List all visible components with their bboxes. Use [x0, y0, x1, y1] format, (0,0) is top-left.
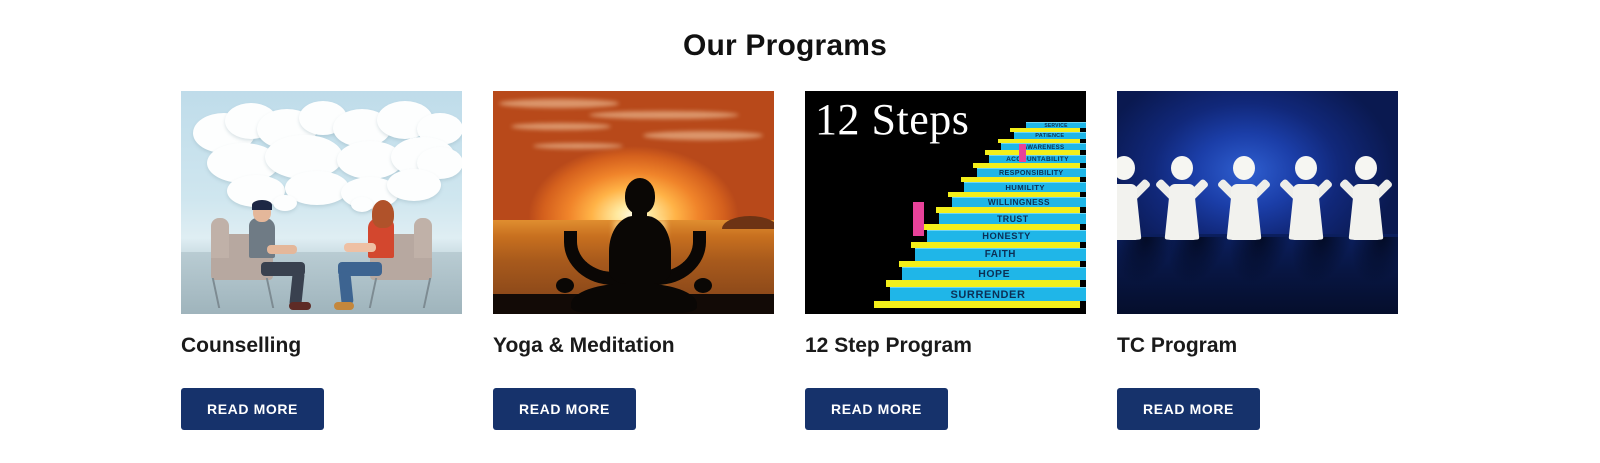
counselling-artwork: [181, 91, 462, 314]
step-riser: [961, 177, 1080, 182]
figure-shadow: [1160, 237, 1228, 283]
step-riser: [923, 224, 1080, 230]
paper-figure: [1345, 142, 1387, 240]
step-tread: SURRENDER: [890, 287, 1086, 301]
step-tread: HONESTY: [927, 230, 1086, 242]
step-tread: FAITH: [915, 248, 1086, 261]
figure-left-hand: [556, 278, 574, 293]
step-riser: [874, 301, 1080, 308]
man-hair: [252, 200, 272, 210]
meditating-figure: [493, 91, 774, 314]
woman-hair: [372, 200, 394, 228]
figure-body: [1293, 184, 1319, 240]
card-title: TC Program: [1117, 333, 1398, 359]
figure-head: [1295, 156, 1317, 180]
yoga-meditation-photo[interactable]: [493, 91, 774, 314]
twelve-steps-graphic[interactable]: 12 Steps SURRENDERHOPEFAITHHONESTYTRUSTW…: [805, 91, 1086, 314]
figure-body: [1231, 184, 1257, 240]
step-tread: AWARENESS: [1001, 143, 1086, 150]
chair-right-legs: [369, 278, 431, 308]
cloud-tail: [351, 197, 373, 212]
woman-shoe: [334, 302, 354, 310]
step-riser: [899, 261, 1080, 267]
figure-head: [625, 178, 655, 214]
step-riser: [948, 192, 1080, 197]
paper-figure: [1161, 142, 1203, 240]
steps-staircase: SURRENDERHOPEFAITHHONESTYTRUSTWILLINGNES…: [805, 128, 1086, 308]
chair-right-back: [414, 218, 432, 258]
card-title: Yoga & Meditation: [493, 333, 774, 359]
figure-head: [1171, 156, 1193, 180]
step-edge-accent: [913, 202, 924, 236]
program-card-tc[interactable]: TC Program READ MORE: [1117, 91, 1398, 359]
cloud-tail: [273, 195, 297, 211]
man-arm: [267, 245, 297, 254]
counselling-illustration[interactable]: [181, 91, 462, 314]
figure-legs: [571, 283, 697, 313]
step-riser: [911, 242, 1080, 248]
step-tread: WILLINGNESS: [952, 197, 1086, 207]
figure-shadow: [1284, 237, 1352, 283]
card-title: 12 Step Program: [805, 333, 1086, 359]
step-edge-accent: [1019, 144, 1026, 162]
step-tread: RESPONSIBILITY: [977, 168, 1086, 177]
read-more-button[interactable]: READ MORE: [493, 388, 636, 430]
program-card-yoga-meditation[interactable]: Yoga & Meditation READ MORE: [493, 91, 774, 359]
figure-body: [1117, 184, 1137, 240]
step-riser: [998, 139, 1080, 143]
figure-shadow: [1344, 237, 1398, 283]
man-shoe: [289, 302, 311, 310]
read-more-button[interactable]: READ MORE: [181, 388, 324, 430]
step-tread: PATIENCE: [1014, 132, 1086, 139]
figure-body: [1169, 184, 1195, 240]
figure-head: [1355, 156, 1377, 180]
tc-artwork: [1117, 91, 1398, 314]
chair-left-legs: [212, 278, 274, 308]
cloud-shape: [387, 169, 441, 201]
program-card-counselling[interactable]: Counselling READ MORE: [181, 91, 462, 359]
figure-body: [1353, 184, 1379, 240]
step-tread: TRUST: [939, 213, 1086, 224]
figure-torso: [609, 216, 671, 284]
card-title: Counselling: [181, 333, 462, 359]
yoga-artwork: [493, 91, 774, 314]
step-riser: [886, 280, 1080, 287]
twelve-steps-artwork: 12 Steps SURRENDERHOPEFAITHHONESTYTRUSTW…: [805, 91, 1086, 314]
program-cards-row: Counselling READ MORE: [181, 91, 1401, 441]
figure-right-hand: [694, 278, 712, 293]
paper-figure: [1117, 142, 1145, 240]
step-tread: HOPE: [902, 267, 1086, 280]
figure-shadow: [1222, 237, 1290, 283]
read-more-button[interactable]: READ MORE: [805, 388, 948, 430]
paper-figure: [1223, 142, 1265, 240]
paper-figure: [1285, 142, 1327, 240]
step-riser: [985, 150, 1080, 155]
chair-left-back: [211, 218, 229, 258]
step-riser: [936, 207, 1080, 213]
step-tread: SERVICE: [1026, 122, 1086, 128]
step-tread: HUMILITY: [964, 182, 1086, 192]
program-card-12-step[interactable]: 12 Steps SURRENDERHOPEFAITHHONESTYTRUSTW…: [805, 91, 1086, 359]
step-riser: [1010, 128, 1080, 132]
step-tread: ACCOUNTABILITY: [989, 155, 1086, 163]
step-riser: [973, 163, 1080, 168]
woman-arm: [344, 243, 376, 252]
read-more-button[interactable]: READ MORE: [1117, 388, 1260, 430]
page-title: Our Programs: [0, 26, 1570, 66]
figure-head: [1233, 156, 1255, 180]
figure-head: [1117, 156, 1135, 180]
our-programs-section: Our Programs: [0, 0, 1600, 463]
tc-program-photo[interactable]: [1117, 91, 1398, 314]
